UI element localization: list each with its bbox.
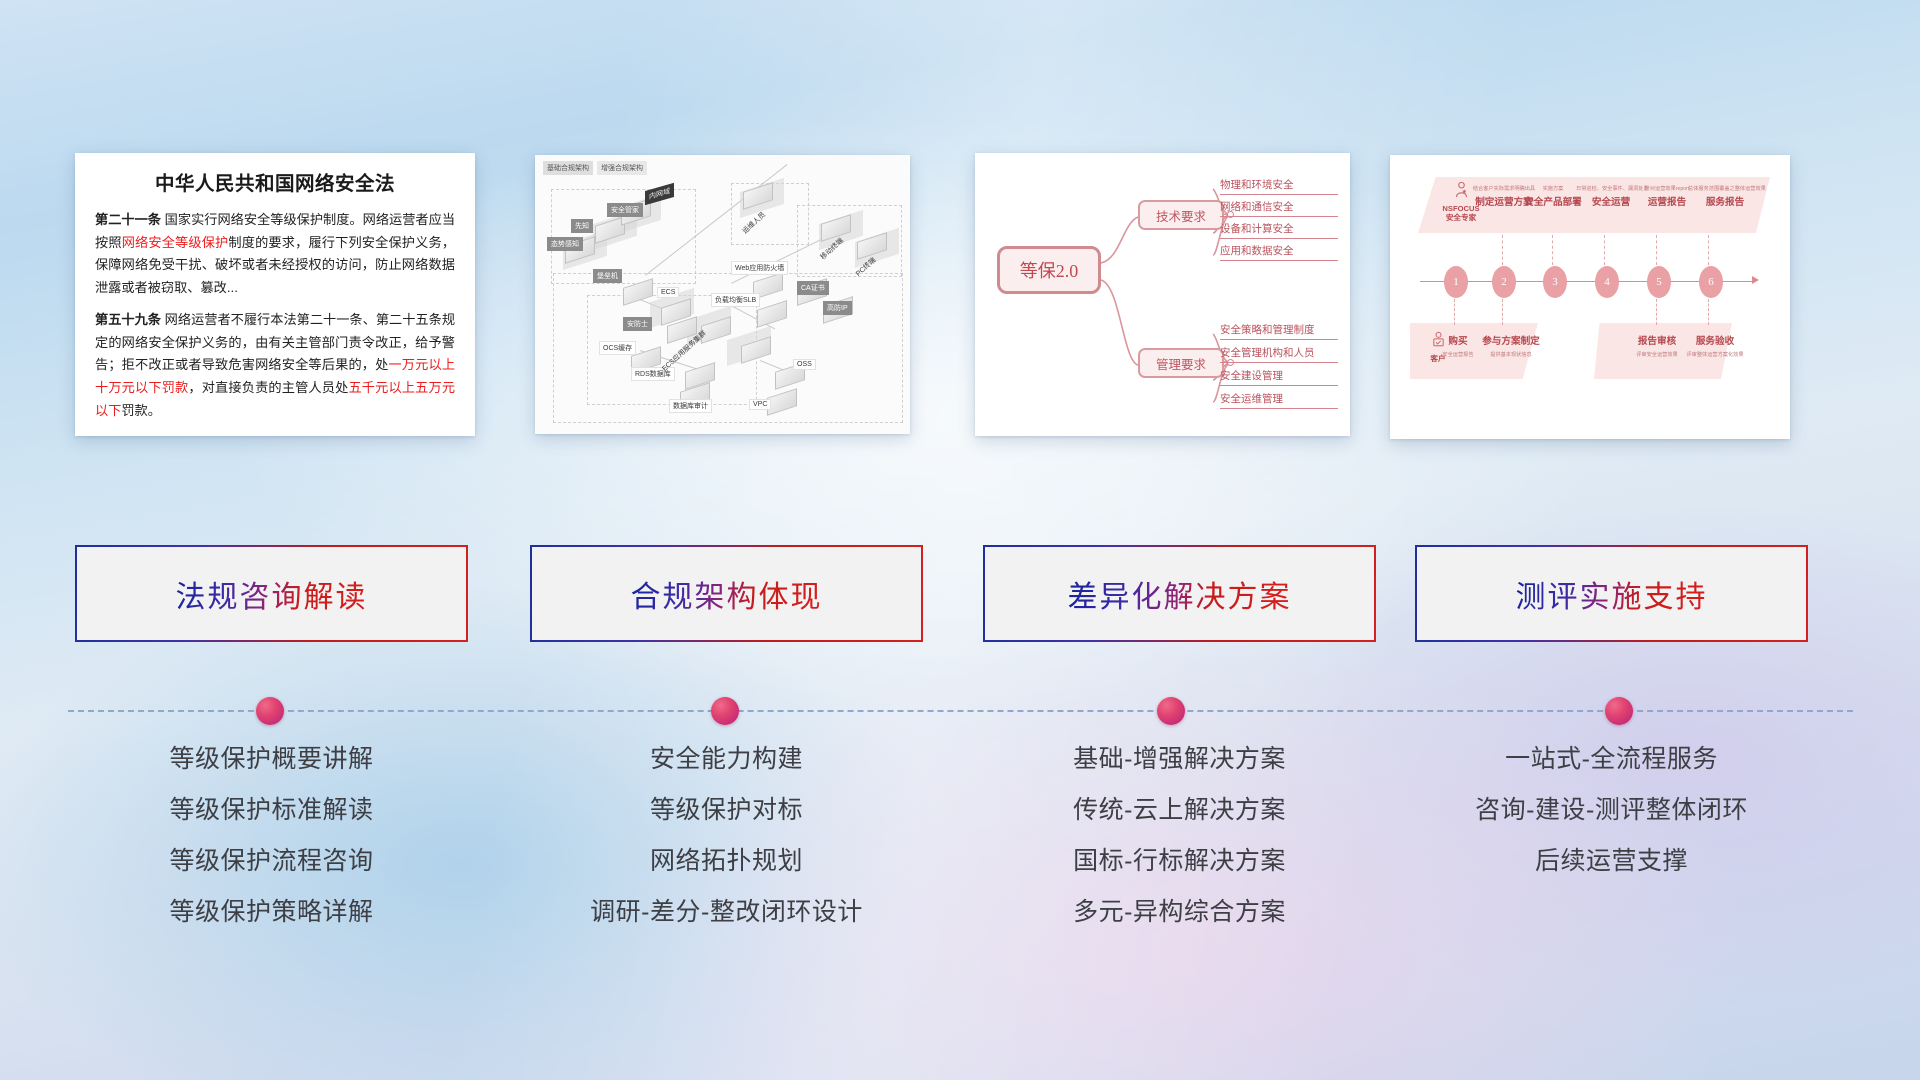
arch-label-ecs: ECS [657, 287, 679, 298]
timeline-dash-6 [1708, 235, 1709, 265]
arch-label-situational: 态势感知 [547, 237, 583, 251]
timeline-step-bottom-1-title: 购买 [1438, 333, 1478, 347]
service-timeline: NSFOCUS 安全专家 客户 1 2 [1390, 155, 1790, 439]
law-document: 中华人民共和国网络安全法 第二十一条 国家实行网络安全等级保护制度。网络运营者应… [75, 153, 475, 436]
section-title-button-3[interactable]: 差异化解决方案 [983, 545, 1376, 642]
arch-label-dbaudit: 数据库审计 [669, 399, 712, 413]
timeline-step-bottom-1: 购买 安全运营报告 [1438, 333, 1478, 360]
timeline-step-bottom-3: 报告审核 评审安全运营效果 [1628, 333, 1686, 360]
mindmap-leaf-construction: 安全建设管理 [1220, 370, 1338, 386]
arch-label-gaofang: 高防IP [823, 301, 852, 315]
timeline-brand-sub: 安全专家 [1430, 213, 1492, 222]
card-cloud-architecture[interactable]: 基础合规架构 增强合规架构 [535, 155, 910, 434]
timeline-dash-b2 [1502, 299, 1503, 325]
list-item: 等级保护策略详解 [75, 888, 468, 939]
timeline-step-bottom-4-title: 服务验收 [1684, 333, 1746, 347]
timeline-bullet-4[interactable] [1605, 697, 1633, 725]
law-article-number: 第五十九条 [95, 312, 161, 327]
list-item: 调研-差分-整改闭环设计 [530, 888, 923, 939]
timeline-step-bottom-1-sub: 安全运营报告 [1438, 351, 1478, 358]
mindmap-leaf-operation: 安全运维管理 [1220, 393, 1338, 409]
timeline-node-1[interactable]: 1 [1444, 266, 1468, 298]
timeline-node-3[interactable]: 3 [1543, 266, 1567, 298]
section-title-label-4: 测评实施支持 [1516, 572, 1708, 616]
section-title-button-2[interactable]: 合规架构体现 [530, 545, 923, 642]
mindmap-leaf-application: 应用和数据安全 [1220, 245, 1338, 261]
timeline-step-bottom-2-title: 参与方案制定 [1480, 333, 1542, 347]
timeline-step-bottom-3-title: 报告审核 [1628, 333, 1686, 347]
arch-label-oss: OSS [793, 359, 816, 370]
detail-list-4: 一站式-全流程服务 咨询-建设-测评整体闭环 后续运营支撑 [1415, 735, 1808, 888]
timeline-node-5[interactable]: 5 [1647, 266, 1671, 298]
timeline-step-top-5-title: 服务报告 [1688, 194, 1762, 208]
detail-list-3: 基础-增强解决方案 传统-云上解决方案 国标-行标解决方案 多元-异构综合方案 [983, 735, 1376, 939]
section-detail-lists: 等级保护概要讲解 等级保护标准解读 等级保护流程咨询 等级保护策略详解 安全能力… [0, 735, 1920, 995]
timeline-bullet-2[interactable] [711, 697, 739, 725]
mindmap-leaf-device: 设备和计算安全 [1220, 223, 1338, 239]
list-item: 一站式-全流程服务 [1415, 735, 1808, 786]
timeline-node-4[interactable]: 4 [1595, 266, 1619, 298]
card-cybersecurity-law[interactable]: 中华人民共和国网络安全法 第二十一条 国家实行网络安全等级保护制度。网络运营者应… [75, 153, 475, 436]
timeline-dashed-line [68, 710, 1853, 712]
timeline-step-bottom-3-sub: 评审安全运营效果 [1628, 351, 1686, 358]
timeline-bullet-3[interactable] [1157, 697, 1185, 725]
arch-label-ca: CA证书 [797, 281, 829, 295]
reference-image-cards: 中华人民共和国网络安全法 第二十一条 国家实行网络安全等级保护制度。网络运营者应… [0, 0, 1920, 460]
mindmap-root[interactable]: 等保2.0 [997, 246, 1101, 294]
section-title-label-2: 合规架构体现 [631, 572, 823, 616]
arch-label-xianzhi: 先知 [571, 219, 593, 233]
architecture-tabs: 基础合规架构 增强合规架构 [543, 161, 647, 175]
timeline-node-6[interactable]: 6 [1699, 266, 1723, 298]
section-title-label-3: 差异化解决方案 [1068, 572, 1292, 616]
timeline-dash-5 [1656, 235, 1657, 265]
law-body-text: ，对直接负责的主管人员处 [188, 380, 348, 395]
timeline-arrow-icon [1752, 276, 1759, 284]
arch-label-waf: Web应用防火墙 [731, 261, 788, 275]
card-mindmap-dengbao[interactable]: 等保2.0 技术要求 物理和环境安全 网络和通信安全 设备和计算安全 应用和数据… [975, 153, 1350, 436]
timeline-dash-2 [1502, 235, 1503, 265]
timeline-step-bottom-4-sub: 评审整体运营方案化效果 [1684, 351, 1746, 358]
mindmap-branch-management[interactable]: 管理要求 [1138, 348, 1224, 378]
card-service-timeline[interactable]: NSFOCUS 安全专家 客户 1 2 [1390, 155, 1790, 439]
arch-label-ocs: OCS缓存 [599, 341, 636, 355]
timeline-dash-b6 [1708, 299, 1709, 325]
mindmap-leaf-physical: 物理和环境安全 [1220, 179, 1338, 195]
mindmap-branch-technical[interactable]: 技术要求 [1138, 200, 1224, 230]
list-item: 安全能力构建 [530, 735, 923, 786]
list-item: 等级保护对标 [530, 786, 923, 837]
arch-label-anfangshi: 安防士 [623, 317, 652, 331]
list-item: 国标-行标解决方案 [983, 837, 1376, 888]
list-item: 传统-云上解决方案 [983, 786, 1376, 837]
arch-label-vpc: VPC [749, 399, 771, 410]
section-title-button-4[interactable]: 测评实施支持 [1415, 545, 1808, 642]
arch-label-bastion: 堡垒机 [593, 269, 622, 283]
timeline-step-top-5: 总体服务范围覆盖之整体运营效果 服务报告 [1688, 185, 1762, 208]
list-item: 等级保护概要讲解 [75, 735, 468, 786]
section-title-label-1: 法规咨询解读 [176, 572, 368, 616]
arch-tab-enhanced[interactable]: 增强合规架构 [597, 161, 647, 175]
mindmap-leaf-network: 网络和通信安全 [1220, 201, 1338, 217]
list-item: 多元-异构综合方案 [983, 888, 1376, 939]
law-title: 中华人民共和国网络安全法 [95, 167, 455, 196]
timeline-step-bottom-4: 服务验收 评审整体运营方案化效果 [1684, 333, 1746, 360]
mindmap-leaf-policy: 安全策略和管理制度 [1220, 324, 1338, 340]
list-item: 网络拓扑规划 [530, 837, 923, 888]
timeline-step-bottom-2-sub: 提供基本现状信息 [1480, 351, 1542, 358]
law-highlight-text: 网络安全等级保护 [122, 235, 229, 250]
section-title-row: 法规咨询解读 合规架构体现 差异化解决方案 测评实施支持 [0, 545, 1920, 655]
list-item: 基础-增强解决方案 [983, 735, 1376, 786]
timeline-step-top-5-sub: 总体服务范围覆盖之整体运营效果 [1688, 185, 1762, 192]
section-title-button-1[interactable]: 法规咨询解读 [75, 545, 468, 642]
architecture-diagram: 基础合规架构 增强合规架构 [535, 155, 910, 434]
timeline-node-2[interactable]: 2 [1492, 266, 1516, 298]
list-item: 等级保护流程咨询 [75, 837, 468, 888]
mindmap-leaf-org: 安全管理机构和人员 [1220, 347, 1338, 363]
arch-label-guanjia: 安全管家 [607, 203, 643, 217]
timeline-dash-4 [1604, 235, 1605, 265]
list-item: 咨询-建设-测评整体闭环 [1415, 786, 1808, 837]
process-timeline [0, 690, 1920, 732]
law-paragraph-2: 第五十九条 网络运营者不履行本法第二十一条、第二十五条规定的网络安全保护义务的，… [95, 309, 455, 423]
list-item: 等级保护标准解读 [75, 786, 468, 837]
timeline-bullet-1[interactable] [256, 697, 284, 725]
timeline-dash-3 [1552, 235, 1553, 265]
arch-tab-basic[interactable]: 基础合规架构 [543, 161, 593, 175]
timeline-dash-b1 [1454, 299, 1455, 325]
detail-list-2: 安全能力构建 等级保护对标 网络拓扑规划 调研-差分-整改闭环设计 [530, 735, 923, 939]
law-body-text: 罚款。 [121, 403, 161, 418]
law-article-number: 第二十一条 [95, 212, 161, 227]
law-paragraph-1: 第二十一条 国家实行网络安全等级保护制度。网络运营者应当按照网络安全等级保护制度… [95, 209, 455, 300]
mindmap: 等保2.0 技术要求 物理和环境安全 网络和通信安全 设备和计算安全 应用和数据… [975, 153, 1350, 436]
detail-list-1: 等级保护概要讲解 等级保护标准解读 等级保护流程咨询 等级保护策略详解 [75, 735, 468, 939]
list-item: 后续运营支撑 [1415, 837, 1808, 888]
timeline-dash-b5 [1656, 299, 1657, 325]
arch-label-slb: 负载均衡SLB [711, 293, 760, 307]
timeline-step-bottom-2: 参与方案制定 提供基本现状信息 [1480, 333, 1542, 360]
